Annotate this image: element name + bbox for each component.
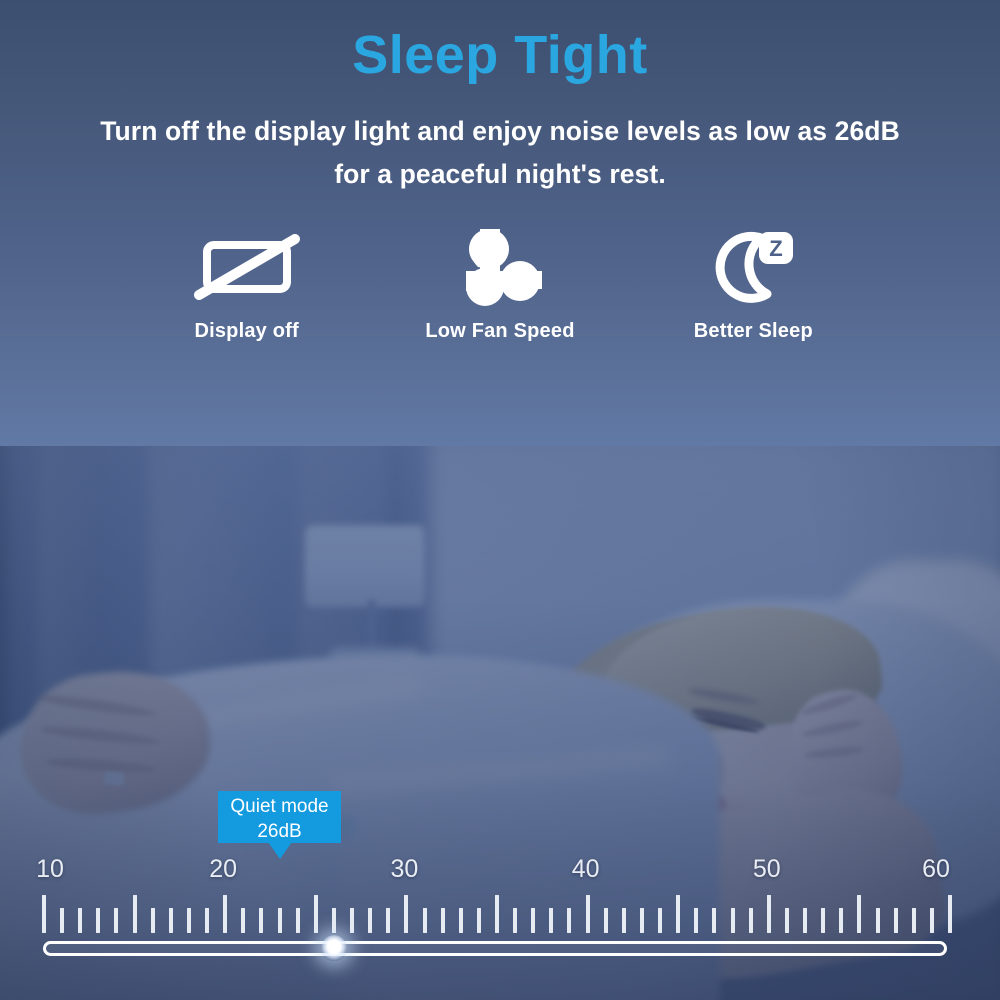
scale-tick-minor: [749, 908, 753, 933]
moon-sleep-icon: Z: [707, 228, 799, 306]
scale-tick-minor: [549, 908, 553, 933]
scale-tick-major: [133, 895, 137, 933]
fan-icon: [454, 228, 546, 306]
scale-label: 40: [572, 855, 600, 884]
scale-tick-minor: [876, 908, 880, 933]
scale-label: 10: [36, 855, 64, 884]
page-title: Sleep Tight: [0, 26, 1000, 84]
scale-tick-minor: [604, 908, 608, 933]
display-off-icon: [193, 228, 301, 306]
feature-list: Display off: [120, 228, 880, 343]
scale-tick-major: [948, 895, 952, 933]
scale-tick-minor: [658, 908, 662, 933]
scale-tick-minor: [531, 908, 535, 933]
scale-tick-minor: [241, 908, 245, 933]
scale-tick-minor: [114, 908, 118, 933]
scale-tick-minor: [350, 908, 354, 933]
feature-display-off: Display off: [120, 228, 373, 343]
scale-tick-minor: [912, 908, 916, 933]
scale-tick-major: [404, 895, 408, 933]
scale-tick-minor: [821, 908, 825, 933]
scale-tick-minor: [803, 908, 807, 933]
scale-tick-major: [676, 895, 680, 933]
scale-tick-minor: [622, 908, 626, 933]
feature-low-fan-speed: Low Fan Speed: [373, 228, 626, 343]
scale-tick-minor: [96, 908, 100, 933]
scale-tick-minor: [894, 908, 898, 933]
scale-tick-minor: [151, 908, 155, 933]
scale-tick-major: [42, 895, 46, 933]
scale-tick-minor: [187, 908, 191, 933]
scale-tick-minor: [640, 908, 644, 933]
noise-level-slider[interactable]: 102030405060: [0, 855, 1000, 975]
scale-tick-minor: [441, 908, 445, 933]
scale-tick-minor: [60, 908, 64, 933]
sleep-tight-banner: Sleep Tight Turn off the display light a…: [0, 0, 1000, 1000]
scale-tick-minor: [332, 908, 336, 933]
scale-tick-major: [767, 895, 771, 933]
feature-label: Low Fan Speed: [425, 320, 574, 343]
slider-track[interactable]: [43, 941, 947, 956]
scale-tick-minor: [205, 908, 209, 933]
scale-tick-minor: [78, 908, 82, 933]
scale-tick-minor: [459, 908, 463, 933]
feature-better-sleep: Z Better Sleep: [627, 228, 880, 343]
scale-tick-minor: [567, 908, 571, 933]
scale-tick-minor: [731, 908, 735, 933]
scale-tick-minor: [423, 908, 427, 933]
scale-tick-minor: [694, 908, 698, 933]
scale-tick-minor: [513, 908, 517, 933]
tooltip-value: 26dB: [218, 819, 341, 844]
scale-tick-major: [223, 895, 227, 933]
feature-label: Display off: [194, 320, 298, 343]
feature-label: Better Sleep: [694, 320, 813, 343]
scale-tick-major: [495, 895, 499, 933]
scale-tick-minor: [278, 908, 282, 933]
scale-label: 20: [209, 855, 237, 884]
scale-tick-minor: [712, 908, 716, 933]
scale-tick-minor: [259, 908, 263, 933]
scale-tick-minor: [930, 908, 934, 933]
scale-label: 50: [753, 855, 781, 884]
scale-tick-minor: [296, 908, 300, 933]
svg-text:Z: Z: [770, 236, 783, 261]
scale-tick-minor: [386, 908, 390, 933]
scale-tick-major: [314, 895, 318, 933]
slider-thumb[interactable]: [321, 935, 347, 961]
scale-label: 60: [922, 855, 950, 884]
scale-label: 30: [390, 855, 418, 884]
scale-tick-major: [857, 895, 861, 933]
scale-tick-minor: [368, 908, 372, 933]
scale-tick-minor: [169, 908, 173, 933]
scale-ruler: [42, 893, 948, 933]
subtitle-text: Turn off the display light and enjoy noi…: [100, 110, 900, 196]
tooltip-title: Quiet mode: [218, 794, 341, 819]
scale-tick-major: [586, 895, 590, 933]
quiet-mode-tooltip: Quiet mode 26dB: [218, 791, 341, 843]
scale-tick-minor: [785, 908, 789, 933]
scale-tick-minor: [477, 908, 481, 933]
scale-tick-minor: [839, 908, 843, 933]
